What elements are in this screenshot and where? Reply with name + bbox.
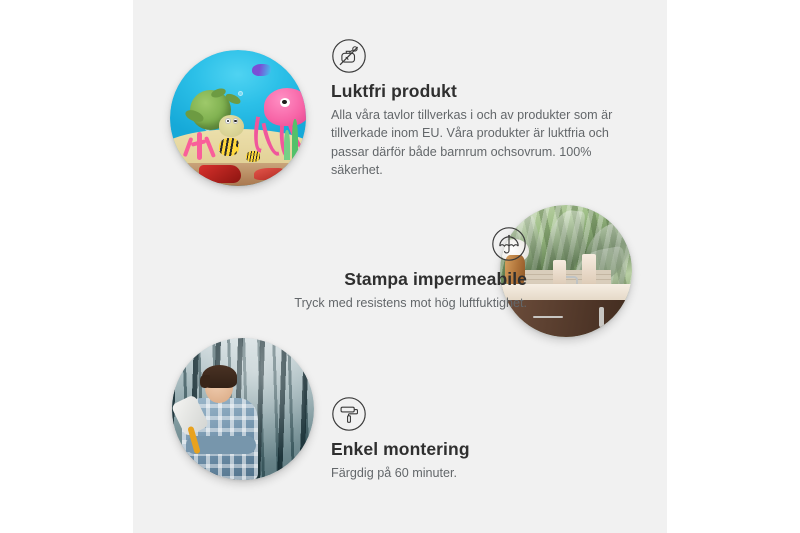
feature-body: Tryck med resistens mot hög luftfuktighe… xyxy=(211,294,527,313)
fish-yellow-small xyxy=(246,151,260,162)
photo-ocean xyxy=(170,50,306,186)
feature-body: Färgdig på 60 minuter. xyxy=(331,464,621,483)
feature-body: Alla våra tavlor tillverkas i och av pro… xyxy=(331,106,631,180)
painter-person xyxy=(181,364,269,480)
octopus-head xyxy=(264,88,306,126)
turtle-eye xyxy=(233,118,239,124)
feature-title: Luktfri produkt xyxy=(331,81,631,102)
seaweed xyxy=(284,130,289,160)
seaweed xyxy=(292,119,297,160)
feature-title: Stampa impermeabile xyxy=(211,269,527,290)
turtle-head xyxy=(219,115,244,137)
paint-roller-icon xyxy=(331,396,367,432)
paint-roller-icon-wrap xyxy=(331,396,621,432)
coral xyxy=(178,119,222,160)
fish-yellow xyxy=(219,138,239,156)
photo-painter-inner xyxy=(172,338,314,480)
towel xyxy=(582,254,597,287)
umbrella-icon-wrap xyxy=(211,226,527,262)
screenshot-stage: Luktfri produkt Alla våra tavlor tillver… xyxy=(0,0,800,533)
fish-purple xyxy=(252,64,271,76)
turtle-eye xyxy=(225,118,231,124)
towel xyxy=(553,260,566,286)
painter-hair xyxy=(202,365,237,388)
feature-odourless: Luktfri produkt Alla våra tavlor tillver… xyxy=(331,38,631,180)
ocean-foreground-strip xyxy=(170,163,306,186)
photo-ocean-inner xyxy=(170,50,306,186)
feature-title: Enkel montering xyxy=(331,439,621,460)
feature-waterproof: Stampa impermeabile Tryck med resistens … xyxy=(211,226,527,312)
photo-painter xyxy=(172,338,314,480)
feature-mounting: Enkel montering Färgdig på 60 minuter. xyxy=(331,396,621,482)
octopus-eye xyxy=(280,98,290,107)
feature-panel: Luktfri produkt Alla våra tavlor tillver… xyxy=(133,0,667,533)
no-fragrance-icon-wrap xyxy=(331,38,631,74)
octopus-arm xyxy=(262,121,280,158)
umbrella-icon xyxy=(491,226,527,262)
no-fragrance-icon xyxy=(331,38,367,74)
